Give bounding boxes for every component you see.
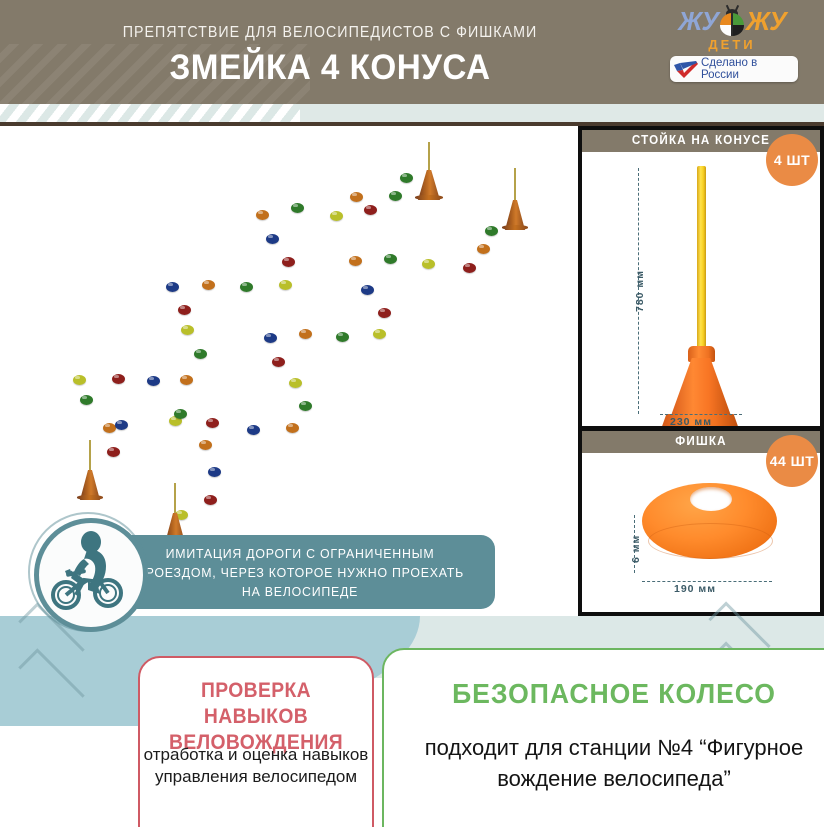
course-chip <box>202 280 215 290</box>
callout-line-1: ИМИТАЦИЯ ДОРОГИ С ОГРАНИЧЕННЫМ <box>115 544 486 563</box>
course-chip <box>181 325 194 335</box>
course-chip <box>291 203 304 213</box>
cone-width-label: 230 мм <box>670 416 712 426</box>
course-chip <box>103 423 116 433</box>
course-cone <box>165 483 185 543</box>
course-chip <box>400 173 413 183</box>
course-chip <box>264 333 277 343</box>
russia-check-flag-icon <box>673 60 699 79</box>
course-cone <box>80 440 100 500</box>
callout-line-2: ПРОЕЗДОМ, ЧЕРЕЗ КОТОРОЕ НУЖНО ПРОЕХАТЬ <box>115 563 486 582</box>
brand-logo[interactable]: ЖУЖУ ДЕТИ Сделано в России <box>652 4 812 100</box>
panel-disc-quantity-badge: 44 ШТ <box>766 435 818 487</box>
product-infographic-page: ПРЕПЯТСТВИЕ ДЛЯ ВЕЛОСИПЕДИСТОВ С ФИШКАМИ… <box>0 0 824 827</box>
disc-width-label: 190 мм <box>674 583 716 595</box>
course-chip <box>279 280 292 290</box>
course-chip <box>384 254 397 264</box>
disc-rim <box>648 523 773 559</box>
cone-width-dimension-line <box>660 414 742 415</box>
course-chip <box>80 395 93 405</box>
course-chip <box>199 440 212 450</box>
card-skills-check-subtitle: отработка и оценка навыков управления ве… <box>140 744 372 788</box>
course-cone <box>505 168 525 230</box>
course-chip <box>266 234 279 244</box>
course-chip <box>389 191 402 201</box>
course-chip <box>378 308 391 318</box>
course-chip <box>247 425 260 435</box>
course-chip <box>422 259 435 269</box>
course-chip <box>350 192 363 202</box>
card-safe-wheel-title: БЕЗОПАСНОЕ КОЛЕСО <box>396 678 824 710</box>
course-chip <box>361 285 374 295</box>
disc-height-label: 6 мм <box>630 535 642 563</box>
course-chip <box>115 420 128 430</box>
ladybug-icon <box>719 8 745 36</box>
page-title: ЗМЕЙКА 4 КОНУСА <box>17 48 644 88</box>
course-chip <box>208 467 221 477</box>
cyclist-icon <box>40 524 132 616</box>
course-chip <box>180 375 193 385</box>
course-chip <box>107 447 120 457</box>
cone-base <box>77 495 103 500</box>
logo-tagline: ДЕТИ <box>652 37 812 52</box>
panel-cone-quantity-badge: 4 ШТ <box>766 134 818 186</box>
logo-word-right: ЖУ <box>746 6 786 36</box>
course-chip <box>336 332 349 342</box>
course-chip <box>178 305 191 315</box>
callout-line-3: НА ВЕЛОСИПЕДЕ <box>115 582 486 601</box>
cyclist-badge <box>34 518 148 632</box>
course-chip <box>330 211 343 221</box>
course-chip <box>477 244 490 254</box>
course-chip <box>256 210 269 220</box>
course-chip <box>166 282 179 292</box>
course-chip <box>349 256 362 266</box>
header-kicker: ПРЕПЯТСТВИЕ ДЛЯ ВЕЛОСИПЕДИСТОВ С ФИШКАМИ <box>26 24 633 42</box>
course-chip <box>286 423 299 433</box>
course-chip <box>174 409 187 419</box>
panel-disc: ФИШКА 44 ШТ 6 мм 190 мм <box>582 431 820 612</box>
made-in-russia-label: Сделано в России <box>701 57 798 81</box>
panel-cone: СТОЙКА НА КОНУСЕ 4 ШТ 780 мм 230 мм <box>582 130 820 426</box>
card-safe-wheel: БЕЗОПАСНОЕ КОЛЕСО подходит для станции №… <box>382 648 824 827</box>
course-chip <box>282 257 295 267</box>
course-chip <box>299 329 312 339</box>
disc-width-dimension-line <box>642 581 772 582</box>
course-chip <box>289 378 302 388</box>
callout-bubble: ИМИТАЦИЯ ДОРОГИ С ОГРАНИЧЕННЫМ ПРОЕЗДОМ,… <box>105 535 495 609</box>
cone-base <box>502 225 528 230</box>
cone-base <box>415 195 443 200</box>
panel-cone-body: 780 мм 230 мм <box>582 152 820 426</box>
course-chip <box>364 205 377 215</box>
cone-height-label: 780 мм <box>634 270 646 312</box>
course-chip <box>485 226 498 236</box>
cone-pole <box>428 142 430 170</box>
cone-pole <box>174 483 176 513</box>
course-cone <box>418 142 440 200</box>
header-under-band <box>0 104 824 122</box>
cone-product-image <box>666 166 736 416</box>
made-in-russia-badge: Сделано в России <box>670 56 798 82</box>
course-chip <box>112 374 125 384</box>
course-chip <box>206 418 219 428</box>
course-chip <box>373 329 386 339</box>
logo-word-left: ЖУ <box>678 6 718 36</box>
card-skills-check: ПРОВЕРКА НАВЫКОВ ВЕЛОВОЖДЕНИЯ отработка … <box>138 656 374 827</box>
cone-pole <box>89 440 91 470</box>
course-chip <box>299 401 312 411</box>
course-chip <box>240 282 253 292</box>
disc-product-image <box>642 483 777 565</box>
page-header: ПРЕПЯТСТВИЕ ДЛЯ ВЕЛОСИПЕДИСТОВ С ФИШКАМИ… <box>0 0 824 104</box>
callout-text: ИМИТАЦИЯ ДОРОГИ С ОГРАНИЧЕННЫМ ПРОЕЗДОМ,… <box>115 544 486 601</box>
course-chip <box>204 495 217 505</box>
course-chip <box>73 375 86 385</box>
cone-pole <box>514 168 516 200</box>
product-panels-column: СТОЙКА НА КОНУСЕ 4 ШТ 780 мм 230 мм ФИШК… <box>578 126 824 616</box>
band-stripe-texture <box>0 104 300 122</box>
course-chip <box>147 376 160 386</box>
cone-pole <box>697 166 706 351</box>
card-safe-wheel-subtitle: подходит для станции №4 “Фигурное вожден… <box>384 732 824 794</box>
disc-center-hole <box>690 487 732 511</box>
course-chip <box>272 357 285 367</box>
course-chip <box>463 263 476 273</box>
course-chip <box>194 349 207 359</box>
